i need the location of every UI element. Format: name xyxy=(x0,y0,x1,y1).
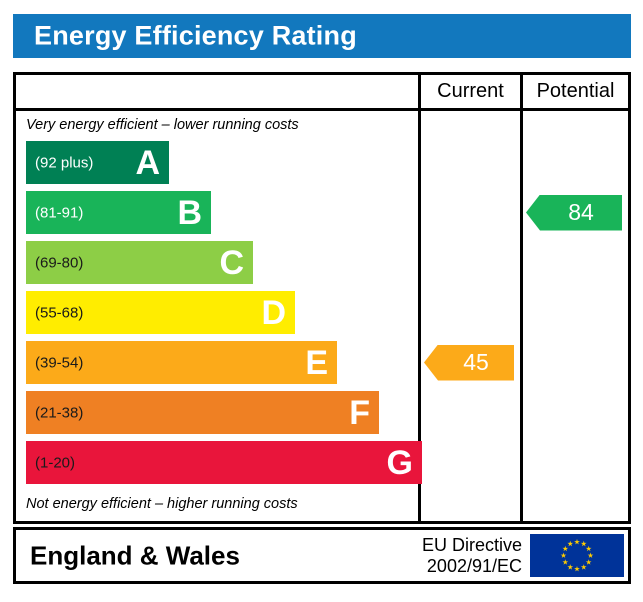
eu-flag-stars xyxy=(530,534,624,577)
eu-directive-line2: 2002/91/EC xyxy=(422,556,522,577)
band-letter-b: B xyxy=(177,196,202,230)
column-header-current: Current xyxy=(421,75,520,111)
eu-flag-icon xyxy=(530,534,624,577)
eu-directive-label: EU Directive 2002/91/EC xyxy=(422,535,522,577)
band-letter-g: G xyxy=(387,446,413,480)
band-letter-c: C xyxy=(219,246,244,280)
band-range-b: (81-91) xyxy=(35,204,83,221)
band-range-a: (92 plus) xyxy=(35,154,93,171)
rating-band-a: (92 plus)A xyxy=(26,141,169,184)
rating-band-b: (81-91)B xyxy=(26,191,211,234)
caption-very-efficient: Very energy efficient – lower running co… xyxy=(26,117,299,133)
band-letter-f: F xyxy=(349,396,370,430)
band-range-c: (69-80) xyxy=(35,254,83,271)
region-label: England & Wales xyxy=(30,540,240,571)
band-range-f: (21-38) xyxy=(35,404,83,421)
band-letter-a: A xyxy=(135,146,160,180)
column-divider-potential-body xyxy=(520,111,523,521)
band-range-e: (39-54) xyxy=(35,354,83,371)
rating-band-g: (1-20)G xyxy=(26,441,422,484)
table-body: Very energy efficient – lower running co… xyxy=(16,111,628,521)
page-title: Energy Efficiency Rating xyxy=(34,21,357,52)
band-range-g: (1-20) xyxy=(35,454,75,471)
table-header-row: Current Potential xyxy=(16,75,628,111)
rating-marker-current: 45 xyxy=(424,345,514,381)
rating-band-d: (55-68)D xyxy=(26,291,295,334)
rating-marker-potential: 84 xyxy=(526,195,622,231)
band-letter-e: E xyxy=(305,346,328,380)
band-letter-d: D xyxy=(261,296,286,330)
rating-bands: (92 plus)A(81-91)B(69-80)C(55-68)D(39-54… xyxy=(26,141,418,493)
energy-rating-chart: Current Potential Very energy efficient … xyxy=(13,72,631,524)
band-range-d: (55-68) xyxy=(35,304,83,321)
rating-band-e: (39-54)E xyxy=(26,341,337,384)
rating-band-f: (21-38)F xyxy=(26,391,379,434)
chart-footer: England & Wales EU Directive 2002/91/EC xyxy=(13,527,631,584)
rating-band-c: (69-80)C xyxy=(26,241,253,284)
column-header-potential: Potential xyxy=(523,75,628,111)
eu-directive-line1: EU Directive xyxy=(422,535,522,556)
energy-efficiency-title-banner: Energy Efficiency Rating xyxy=(13,14,631,58)
caption-not-efficient: Not energy efficient – higher running co… xyxy=(26,496,298,512)
